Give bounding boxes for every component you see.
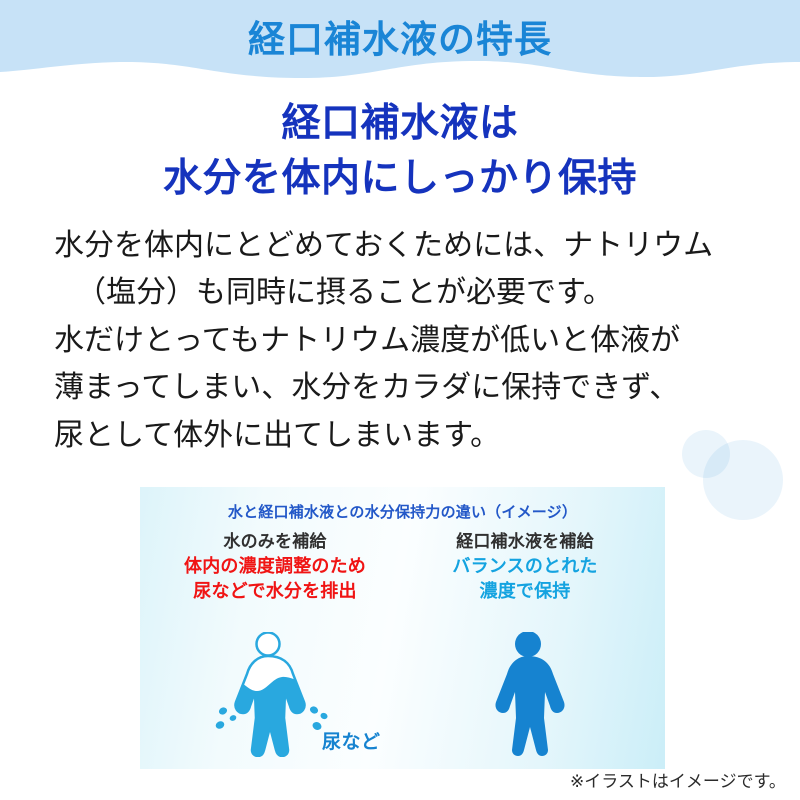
column-right-heading: 経口補水液を補給 — [400, 531, 650, 553]
body-line-2: （塩分）も同時に摂ることが必要です。 — [54, 269, 774, 316]
panel-column-ors: 経口補水液を補給 バランスのとれた 濃度で保持 — [400, 531, 650, 604]
column-right-sub-1: バランスのとれた — [400, 555, 650, 578]
headline-line-1: 経口補水液は — [0, 96, 800, 151]
body-paragraph: 水分を体内にとどめておくためには、ナトリウム （塩分）も同時に摂ることが必要です… — [54, 222, 774, 459]
column-right-sub-2: 濃度で保持 — [400, 580, 650, 603]
page-title: 経口補水液の特長 — [0, 9, 800, 63]
illustration-panel: 水と経口補水液との水分保持力の違い（イメージ） 水のみを補給 体内の濃度調整のた… — [140, 487, 665, 769]
body-line-3: 水だけとってもナトリウム濃度が低いと体液が — [54, 317, 774, 364]
footnote: ※イラストはイメージです。 — [570, 767, 786, 792]
urine-label: 尿など — [322, 727, 381, 754]
panel-caption: 水と経口補水液との水分保持力の違い（イメージ） — [140, 501, 665, 522]
headline: 経口補水液は 水分を体内にしっかり保持 — [0, 96, 800, 207]
person-dehydrated-icon — [198, 632, 338, 762]
header-band: 経口補水液の特長 — [0, 0, 800, 90]
body-line-4: 薄まってしまい、水分をカラダに保持できず、 — [54, 364, 774, 411]
headline-line-2: 水分を体内にしっかり保持 — [0, 151, 800, 206]
person-hydrated-shape — [458, 632, 598, 757]
column-left-heading: 水のみを補給 — [150, 531, 400, 553]
column-left-sub-1: 体内の濃度調整のため — [150, 555, 400, 578]
person-dehydrated-shape — [198, 632, 338, 757]
person-hydrated-icon — [458, 632, 598, 762]
body-line-1: 水分を体内にとどめておくためには、ナトリウム — [54, 222, 774, 269]
panel-column-water-only: 水のみを補給 体内の濃度調整のため 尿などで水分を排出 — [150, 531, 400, 604]
column-left-sub-2: 尿などで水分を排出 — [150, 580, 400, 603]
water-droplets-left — [214, 706, 237, 730]
body-line-5: 尿として体外に出てしまいます。 — [54, 412, 774, 459]
